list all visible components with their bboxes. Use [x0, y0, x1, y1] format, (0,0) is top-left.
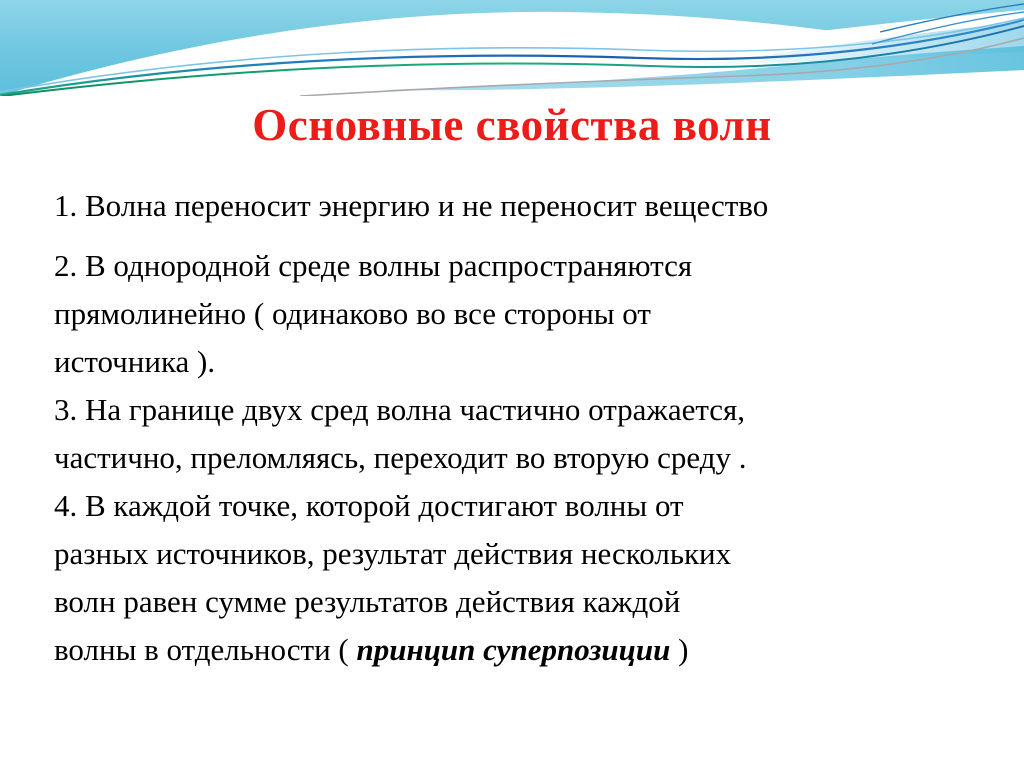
- paragraph-3-line-2: частично, преломляясь, переходит во втор…: [54, 440, 747, 475]
- wave-line-green: [2, 26, 1024, 96]
- slide: Основные свойства волн 1. Волна переноси…: [0, 0, 1024, 767]
- superposition-principle-emphasis: принцип суперпозиции: [357, 632, 671, 667]
- paragraph-4-line-4-after: ): [670, 632, 688, 667]
- wave-line-blue-right-b: [872, 12, 1024, 44]
- wave-cyan-field: [0, 0, 1024, 96]
- paragraph-4-line-2: разных источников, результат действия не…: [54, 536, 731, 571]
- wave-line-grey: [300, 38, 1024, 96]
- paragraph-4-line-3: волн равен сумме результатов действия ка…: [54, 584, 680, 619]
- wave-line-lightblue: [0, 18, 1024, 92]
- paragraph-3: 3. На границе двух сред волна частично о…: [54, 386, 994, 482]
- wave-graphic: [0, 0, 1024, 96]
- decorative-wave-banner: [0, 0, 1024, 96]
- wave-pale-ribbon: [690, 22, 1024, 66]
- wave-line-blue: [0, 20, 1024, 95]
- paragraph-3-line-1: 3. На границе двух сред волна частично о…: [54, 392, 745, 427]
- paragraph-4-line-4-before: волны в отдельности (: [54, 632, 357, 667]
- paragraph-2: 2. В однородной среде волны распространя…: [54, 242, 994, 386]
- paragraph-4-line-1: 4. В каждой точке, которой достигают вол…: [54, 488, 684, 523]
- wave-lower-band: [380, 46, 1024, 90]
- paragraph-1-line-1: 1. Волна переносит энергию и не переноси…: [54, 188, 768, 223]
- slide-title: Основные свойства волн: [0, 98, 1024, 152]
- wave-white-sweep: [0, 10, 1024, 96]
- paragraph-1: 1. Волна переносит энергию и не переноси…: [54, 182, 994, 230]
- paragraph-4: 4. В каждой точке, которой достигают вол…: [54, 482, 994, 674]
- slide-body: 1. Волна переносит энергию и не переноси…: [54, 182, 994, 674]
- paragraph-2-line-2: прямолинейно ( одинаково во все стороны …: [54, 296, 651, 331]
- paragraph-2-line-1: 2. В однородной среде волны распространя…: [54, 248, 692, 283]
- paragraph-2-line-3: источника ).: [54, 344, 215, 379]
- wave-line-blue-right-a: [880, 4, 1024, 32]
